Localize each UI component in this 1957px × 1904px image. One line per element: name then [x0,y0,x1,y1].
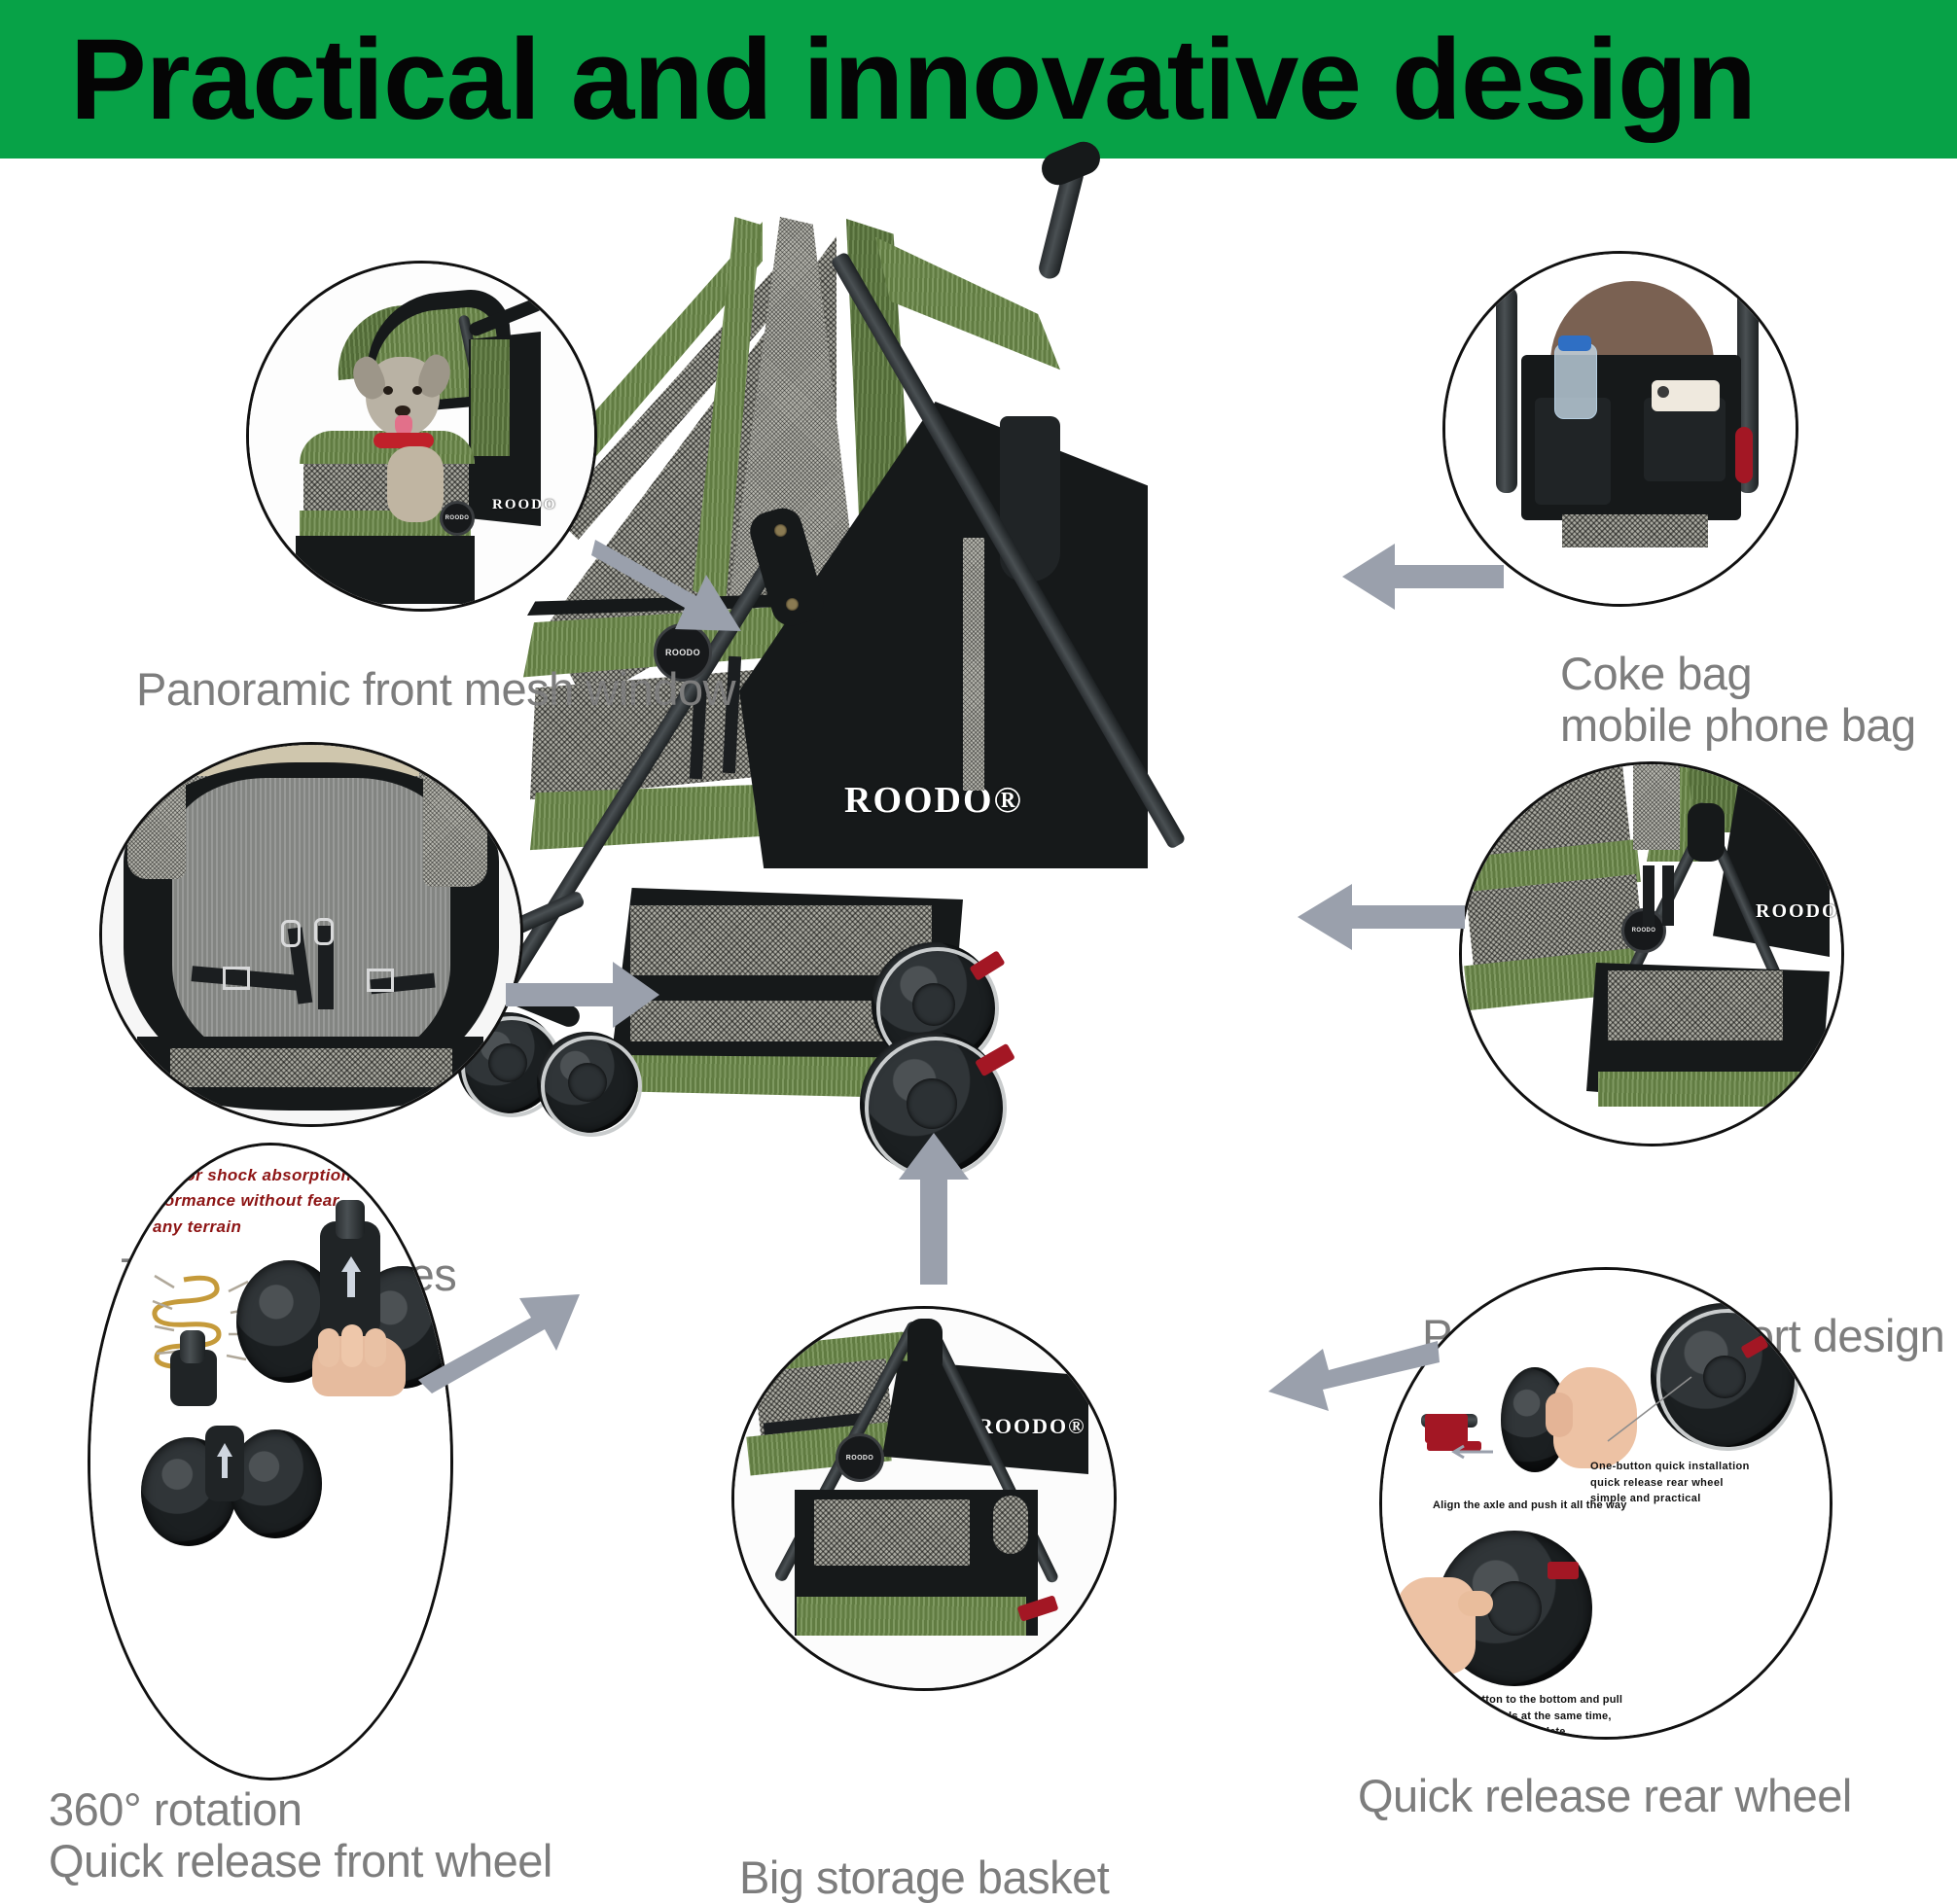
hinge-rivet-1 [774,524,787,537]
rear-wheel-near-hub [907,1078,957,1129]
caption-quick-release-rear-wheel: Quick release rear wheel [1358,1771,1852,1822]
front-wheel-right-hub [568,1063,607,1102]
photo-dog-in-stroller: ROODO ROODO [249,264,594,609]
caption-panoramic-front-mesh-window: Panoramic front mesh window [136,664,735,716]
photo-parallel-support: ROODO® ROODO [1462,764,1841,1144]
brand-mark-basket: ROODO® [978,1414,1086,1439]
header-banner: Practical and innovative design [0,0,1957,159]
main-product-photo: ROODO® ROODO [584,217,1391,1238]
annotation-press-button: Press the button to the bottom and pull … [1415,1692,1622,1740]
arrow-to-storage-basket [895,1131,973,1287]
photo-storage-basket: ROODO® ROODO [734,1309,1114,1688]
photo-front-wheel-assembly: Superior shock absorption performance wi… [90,1146,450,1778]
caption-big-storage-basket: Big storage basket [739,1852,1109,1904]
photo-rear-wheel-release: Align the axle and push it all the way O… [1382,1270,1830,1737]
arrow-to-leashes [506,956,661,1034]
photo-stroller-interior [102,745,520,1124]
brand-mark-parallel: ROODO® [1756,900,1844,923]
caption-coke-bag-mobile-phone-bag: Coke bag mobile phone bag [1560,649,1916,751]
arrow-to-parallel-support [1294,878,1465,956]
page-title: Practical and innovative design [70,22,1756,137]
callout-big-storage-basket[interactable]: ROODO® ROODO [731,1306,1117,1691]
roodo-badge-basket: ROODO [836,1433,884,1482]
hinge-rivet-2 [786,598,799,611]
callout-panoramic-front-mesh-window[interactable]: ROODO ROODO [246,261,597,612]
annotation-one-button-install: One-button quick installation quick rele… [1590,1459,1750,1507]
callout-360-rotation-front-wheel[interactable]: Superior shock absorption performance wi… [88,1143,453,1781]
callout-quick-release-rear-wheel[interactable]: Align the axle and push it all the way O… [1379,1267,1832,1740]
callout-parallel-full-support-design[interactable]: ROODO® ROODO [1459,761,1844,1146]
arrow-to-front-wheel [416,1287,582,1393]
rear-wheel-far-hub [912,983,955,1026]
arrow-to-front-mesh-window [591,530,747,647]
shock-absorption-note: Superior shock absorption performance wi… [131,1163,351,1240]
arrow-to-coke-bag [1338,538,1504,616]
infographic-stage: ROODO® ROODO [0,159,1957,1819]
arrow-to-rear-wheel [1264,1325,1440,1413]
rear-mesh-sliver [963,538,984,791]
caption-360-rotation-front-wheel: 360° rotation Quick release front wheel [49,1784,552,1886]
callout-two-dog-leashes[interactable] [99,742,523,1127]
brand-mark-body: ROODO® [844,779,1023,822]
